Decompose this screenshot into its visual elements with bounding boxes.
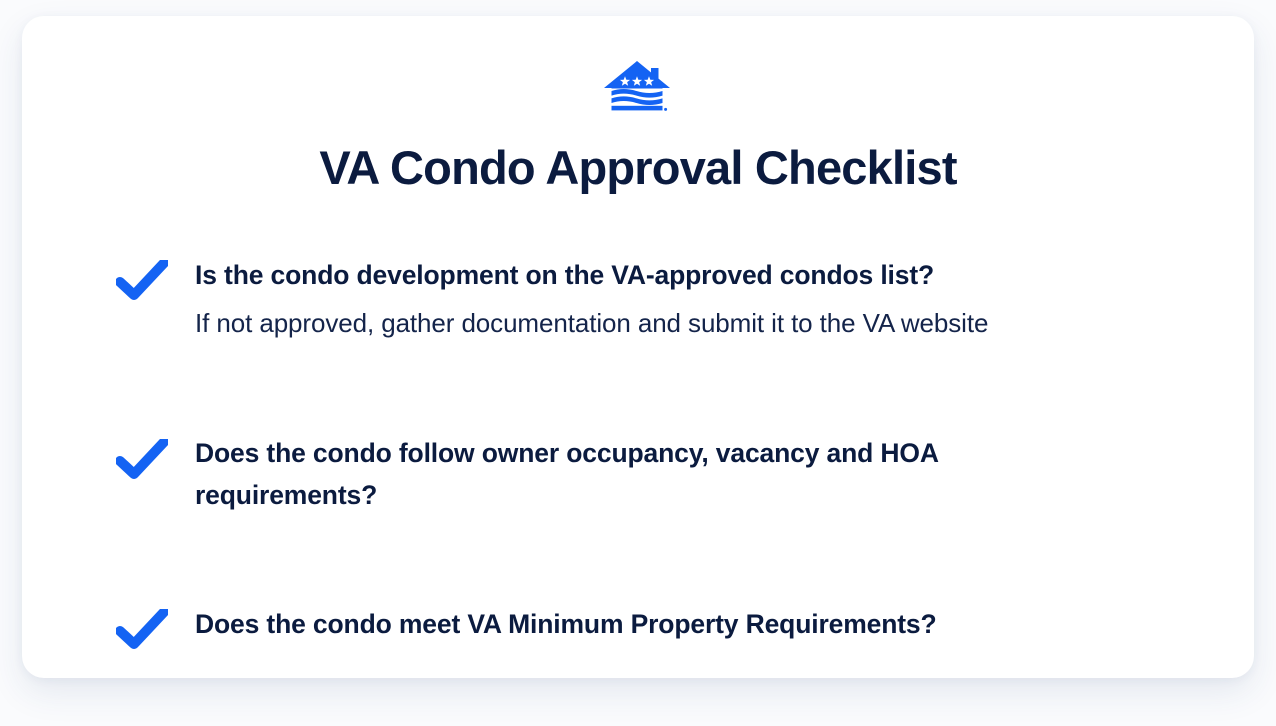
checklist-item: Does the condo meet VA Minimum Property … [116,603,1226,646]
checklist-card: VA Condo Approval Checklist Is the condo… [22,16,1254,678]
checklist-item-title: Does the condo follow owner occupancy, v… [195,433,1095,517]
checkmark-icon [116,609,168,649]
checklist-item-title: Is the condo development on the VA-appro… [195,254,1195,297]
logo-container [22,60,1254,112]
checkmark-icon [116,260,168,300]
checkmark-icon [116,439,168,479]
page-title: VA Condo Approval Checklist [22,140,1254,195]
checklist: Is the condo development on the VA-appro… [116,254,1226,646]
checklist-item: Is the condo development on the VA-appro… [116,254,1226,343]
checklist-item-title: Does the condo meet VA Minimum Property … [195,603,1195,646]
section-spacer [116,387,1226,433]
checklist-item-subtitle: If not approved, gather documentation an… [195,305,1226,343]
va-home-loans-house-logo [604,60,672,112]
checklist-item: Does the condo follow owner occupancy, v… [116,433,1226,517]
section-spacer [116,561,1226,603]
